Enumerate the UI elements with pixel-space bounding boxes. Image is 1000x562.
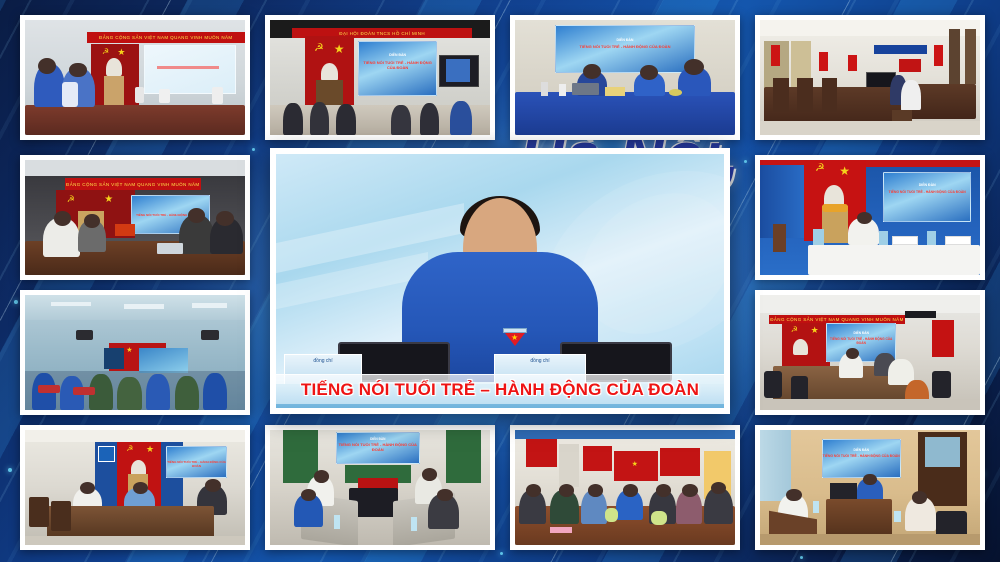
feature-speaker-panel[interactable]: ★ đồng chí đồng chí TIẾNG NÓI TUỔI TRẺ –… [270,148,730,414]
feature-scene: ★ đồng chí đồng chí TIẾNG NÓI TUỔI TRẺ –… [276,154,724,408]
thumbnail-tile-12[interactable]: DIỄN ĐÀN TIẾNG NÓI TUỔI TRẺ - HÀNH ĐỘNG … [755,425,985,550]
thumbnail-tile-5[interactable]: ĐẢNG CỘNG SẢN VIỆT NAM QUANG VINH MUÔN N… [20,155,250,280]
tile-4-scene [760,20,980,135]
thumbnail-tile-9[interactable]: ☭ ★ TIẾNG NÓI TUỔI TRẺ - HÀNH ĐỘNG CỦA Đ… [20,425,250,550]
thumbnail-tile-3[interactable]: DIỄN ĐÀN TIẾNG NÓI TUỔI TRẺ - HÀNH ĐỘNG … [510,15,740,140]
tile-9-projection-screen: TIẾNG NÓI TUỔI TRẺ - HÀNH ĐỘNG CỦA ĐOÀN [166,446,228,478]
tile-5-party-slogan: ĐẢNG CỘNG SẢN VIỆT NAM QUANG VINH MUÔN N… [65,178,201,190]
thumbnail-tile-1[interactable]: ĐẢNG CỘNG SẢN VIỆT NAM QUANG VINH MUÔN N… [20,15,250,140]
tile-7-scene: ☭ ★ DIỄN ĐÀN TIẾNG NÓI TUỔI TRẺ - HÀNH Đ… [760,160,980,275]
tile-1-party-slogan: ĐẢNG CỘNG SẢN VIỆT NAM QUANG VINH MUÔN N… [87,32,245,44]
tile-12-scene: DIỄN ĐÀN TIẾNG NÓI TUỔI TRẺ - HÀNH ĐỘNG … [760,430,980,545]
caption-bar: TIẾNG NÓI TUỔI TRẺ – HÀNH ĐỘNG CỦA ĐOÀN [276,374,724,404]
tile-10-backdrop-banner: DIỄN ĐÀN TIẾNG NÓI TUỔI TRẺ - HÀNH ĐỘNG … [336,432,420,464]
thumbnail-tile-10[interactable]: DIỄN ĐÀN TIẾNG NÓI TUỔI TRẺ - HÀNH ĐỘNG … [265,425,495,550]
tile-12-projection-screen: DIỄN ĐÀN TIẾNG NÓI TUỔI TRẺ - HÀNH ĐỘNG … [822,439,901,478]
tile-5-scene: ĐẢNG CỘNG SẢN VIỆT NAM QUANG VINH MUÔN N… [25,160,245,275]
thumbnail-tile-4[interactable] [755,15,985,140]
tile-2-scene: ĐẠI HỘI ĐOÀN TNCS HỒ CHÍ MINH ☭ ★ DIỄN Đ… [270,20,490,135]
tile-3-scene: DIỄN ĐÀN TIẾNG NÓI TUỔI TRẺ - HÀNH ĐỘNG … [515,20,735,135]
tile-3-backdrop-banner: DIỄN ĐÀN TIẾNG NÓI TUỔI TRẺ - HÀNH ĐỘNG … [555,25,696,73]
thumbnail-tile-7[interactable]: ☭ ★ DIỄN ĐÀN TIẾNG NÓI TUỔI TRẺ - HÀNH Đ… [755,155,985,280]
nameplate-center-label: đồng chí [530,358,549,364]
tile-9-scene: ☭ ★ TIẾNG NÓI TUỔI TRẺ - HÀNH ĐỘNG CỦA Đ… [25,430,245,545]
tile-10-scene: DIỄN ĐÀN TIẾNG NÓI TUỔI TRẺ - HÀNH ĐỘNG … [270,430,490,545]
thumbnail-tile-6[interactable]: ★ [20,290,250,415]
thumbnail-tile-11[interactable]: ★ [510,425,740,550]
tile-7-projection-screen: DIỄN ĐÀN TIẾNG NÓI TUỔI TRẺ - HÀNH ĐỘNG … [883,172,971,223]
tile-11-scene: ★ [515,430,735,545]
nameplate-left-label: đồng chí [313,358,332,364]
tile-1-scene: ĐẢNG CỘNG SẢN VIỆT NAM QUANG VINH MUÔN N… [25,20,245,135]
thumbnail-tile-2[interactable]: ĐẠI HỘI ĐOÀN TNCS HỒ CHÍ MINH ☭ ★ DIỄN Đ… [265,15,495,140]
tile-8-scene: ĐẢNG CỘNG SẢN VIỆT NAM QUANG VINH MUÔN N… [760,295,980,410]
thumbnail-tile-8[interactable]: ĐẢNG CỘNG SẢN VIỆT NAM QUANG VINH MUÔN N… [755,290,985,415]
video-conference-collage: Hà Nội, ĐẢNG CỘNG SẢN VIỆT NAM QUANG VIN… [0,0,1000,562]
tile-6-scene: ★ [25,295,245,410]
youth-union-badge: ★ [505,330,525,346]
tile-2-projection-screen: DIỄN ĐÀN TIẾNG NÓI TUỔI TRẺ - HÀNH ĐỘNG … [358,41,437,96]
caption-text: TIẾNG NÓI TUỔI TRẺ – HÀNH ĐỘNG CỦA ĐOÀN [301,380,699,400]
